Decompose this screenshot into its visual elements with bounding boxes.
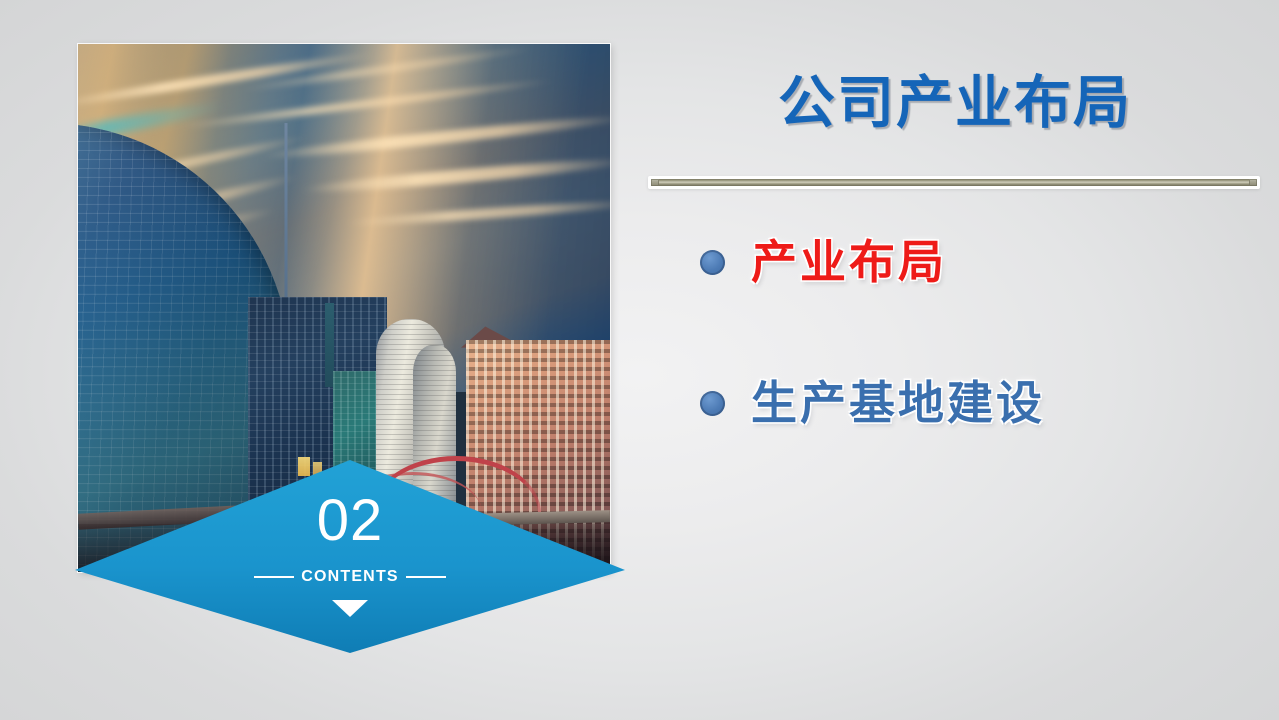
bullet-circle-icon — [700, 250, 725, 275]
divider-cap-left — [651, 179, 659, 186]
divider-cap-right — [1249, 179, 1257, 186]
contents-label: CONTENTS — [301, 568, 399, 586]
page-title: 公司产业布局 — [650, 72, 1260, 135]
title-divider — [648, 176, 1260, 189]
list-item[interactable]: 生产基地建设 — [700, 377, 1260, 430]
divider-bar — [651, 179, 1257, 186]
bullet-list: 产业布局 生产基地建设 — [700, 236, 1260, 518]
list-item[interactable]: 产业布局 — [700, 236, 1260, 289]
bullet-circle-icon — [700, 391, 725, 416]
contents-rule-right — [406, 576, 446, 578]
contents-label-group: CONTENTS — [75, 568, 625, 586]
contents-rule-left — [254, 576, 294, 578]
caret-down-icon — [332, 600, 368, 617]
bullet-label-2: 生产基地建设 — [751, 377, 1045, 430]
bullet-label-1: 产业布局 — [751, 236, 947, 289]
presentation-slide: 02 CONTENTS 公司产业布局 产业布局 生产基地建设 — [0, 0, 1279, 720]
